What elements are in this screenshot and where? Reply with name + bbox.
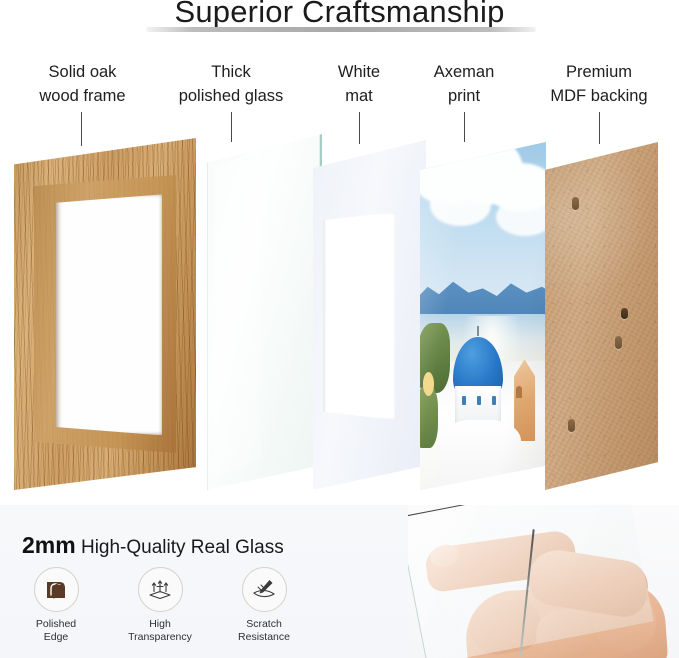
exploded-frame-diagram <box>0 112 679 497</box>
callout-line-1: Premium <box>528 60 670 84</box>
callout-line-1: Solid oak <box>10 60 155 84</box>
feature-label: Scratch Resistance <box>224 618 304 644</box>
callout-label-glass: Thick polished glass <box>160 60 302 108</box>
high-transparency-icon <box>138 567 183 612</box>
callout-line-2: polished glass <box>160 84 302 108</box>
glass-feature-list: Polished Edge High Transparency <box>16 567 304 644</box>
polished-edge-icon <box>34 567 79 612</box>
infographic-root: Superior Craftsmanship Solid oak wood fr… <box>0 0 679 658</box>
glass-thickness-value: 2mm <box>22 532 76 558</box>
feature-scratch-resistance: Scratch Resistance <box>224 567 304 644</box>
title-underline-rule <box>146 27 536 32</box>
glass-spec-heading: 2mm High-Quality Real Glass <box>22 532 284 559</box>
feature-line-1: Scratch <box>224 618 304 631</box>
feature-line-1: Polished <box>16 618 96 631</box>
mdf-fiber-texture <box>545 142 658 490</box>
frame-aperture <box>56 194 162 435</box>
layer-solid-oak-wood-frame <box>14 138 196 490</box>
backing-keyhole-hanger <box>621 308 628 319</box>
page-title: Superior Craftsmanship <box>0 0 679 30</box>
callout-line-2: print <box>415 84 513 108</box>
backing-keyhole-hanger <box>572 197 579 210</box>
feature-line-1: High <box>120 618 200 631</box>
glass-spec-text: High-Quality Real Glass <box>76 537 284 558</box>
callout-label-wood-frame: Solid oak wood frame <box>10 60 155 108</box>
callout-line-2: mat <box>310 84 408 108</box>
feature-line-2: Transparency <box>120 631 200 644</box>
feature-label: Polished Edge <box>16 618 96 644</box>
title-block: Superior Craftsmanship <box>0 0 679 30</box>
callout-label-print: Axeman print <box>415 60 513 108</box>
glass-reflection-sheen <box>215 148 261 478</box>
callout-line-2: wood frame <box>10 84 155 108</box>
callout-line-2: MDF backing <box>528 84 670 108</box>
callout-label-mat: White mat <box>310 60 408 108</box>
feature-line-2: Edge <box>16 631 96 644</box>
callout-line-1: Axeman <box>415 60 513 84</box>
print-shading-overlay <box>420 142 546 490</box>
backing-keyhole-hanger <box>615 336 622 349</box>
feature-line-2: Resistance <box>224 631 304 644</box>
backing-keyhole-hanger <box>568 419 575 432</box>
feature-high-transparency: High Transparency <box>120 567 200 644</box>
feature-label: High Transparency <box>120 618 200 644</box>
mat-window-opening <box>323 212 395 420</box>
scratch-resistance-icon <box>242 567 287 612</box>
callout-line-1: White <box>310 60 408 84</box>
hand-holding-glass-photo <box>408 505 679 658</box>
frame-side-face <box>186 142 200 492</box>
callout-label-backing: Premium MDF backing <box>528 60 670 108</box>
feature-polished-edge: Polished Edge <box>16 567 96 644</box>
glass-spec-panel: 2mm High-Quality Real Glass Polished Edg… <box>0 505 679 658</box>
callout-line-1: Thick <box>160 60 302 84</box>
layer-axeman-print <box>420 142 546 490</box>
